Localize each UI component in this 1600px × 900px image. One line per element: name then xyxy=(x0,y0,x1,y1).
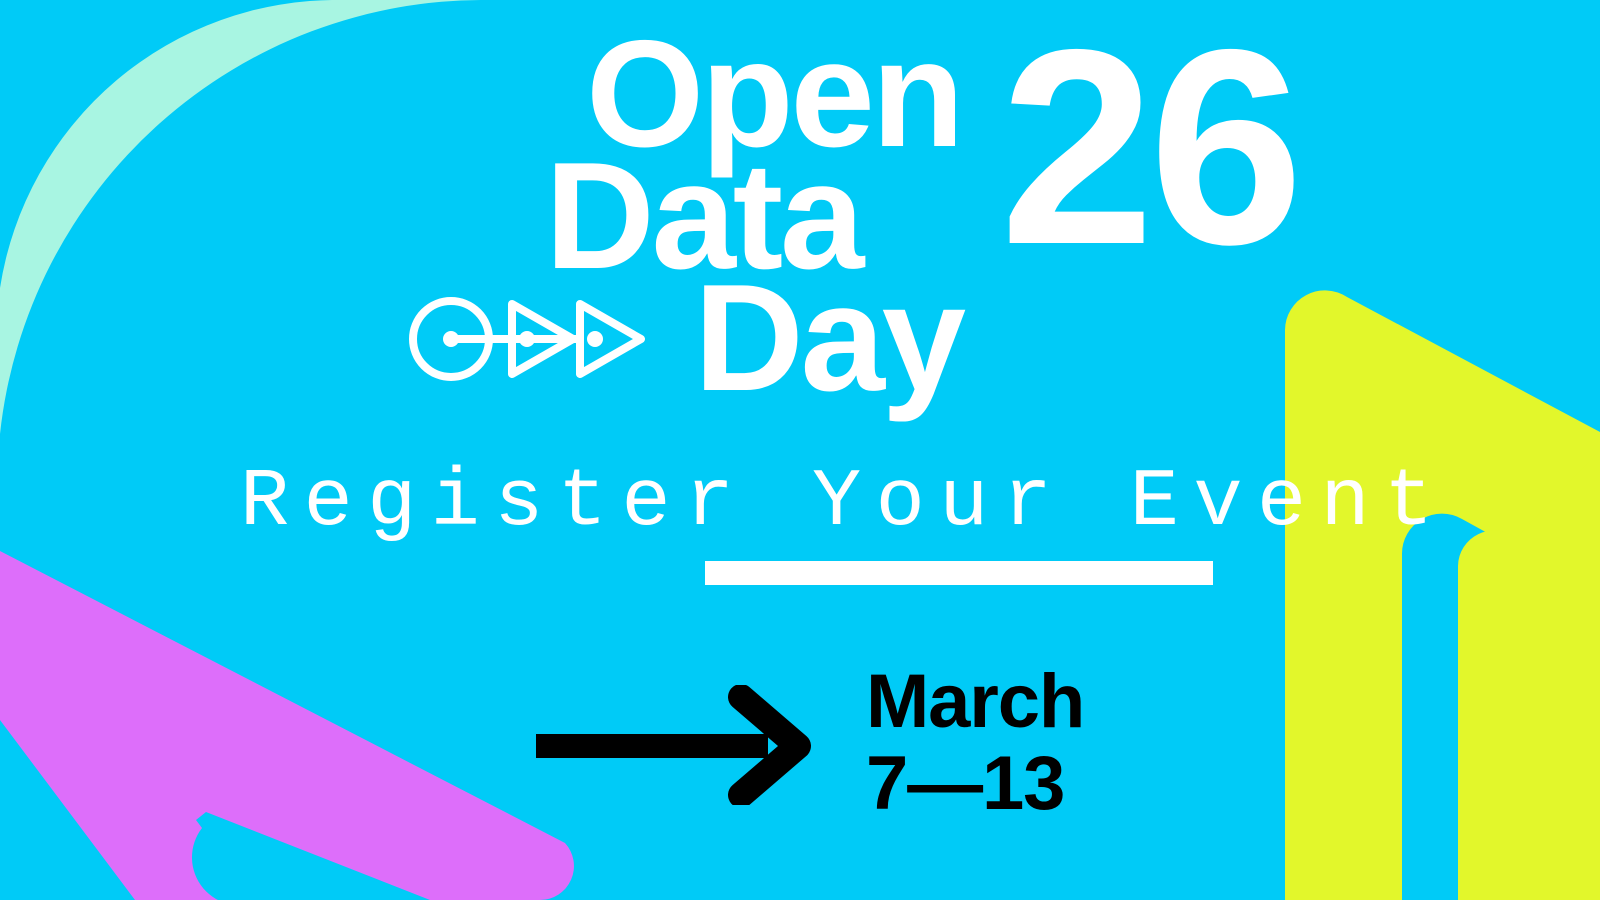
event-date-text: March 7—13 xyxy=(866,661,1084,825)
magenta-chevron-shape xyxy=(0,551,574,900)
right-arrow-icon xyxy=(536,685,816,805)
event-date-month: March xyxy=(866,661,1084,743)
cta-label: Register Your Event xyxy=(240,462,1448,544)
mint-arc-shape xyxy=(0,0,486,434)
event-date-row: March 7—13 xyxy=(536,655,1156,820)
cta-underline-bar xyxy=(705,561,1213,585)
event-date-days: 7—13 xyxy=(866,743,1084,825)
register-your-event-cta[interactable]: Register Your Event xyxy=(240,462,1340,592)
open-data-day-poster: Open Data Day 26 Register Your Event xyxy=(0,0,1600,900)
